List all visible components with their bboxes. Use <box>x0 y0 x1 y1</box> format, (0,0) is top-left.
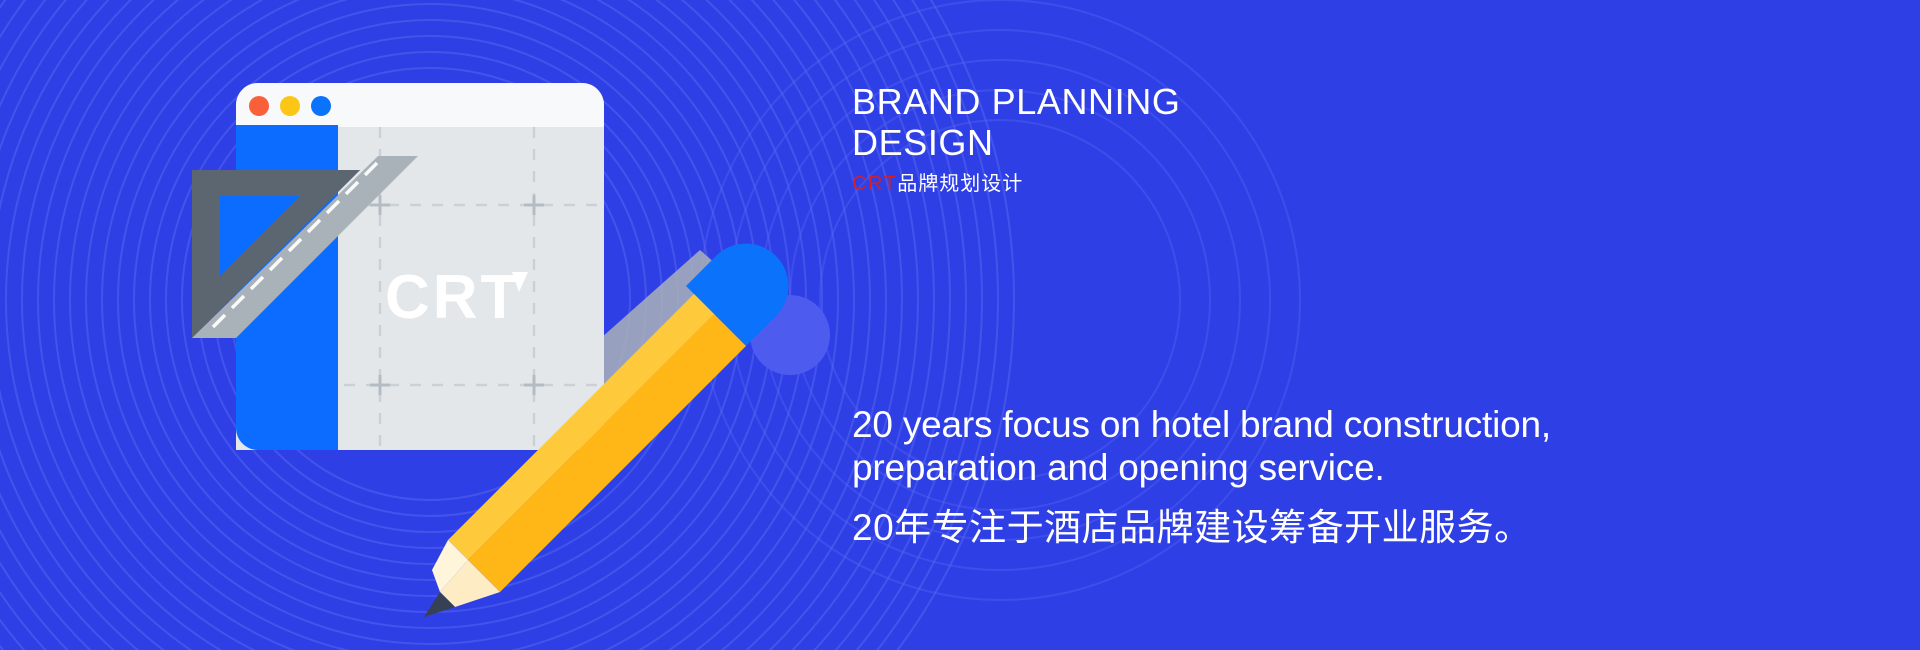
brand-subtitle: CRT品牌规划设计 <box>852 172 1552 196</box>
minimize-dot-icon <box>280 96 300 116</box>
close-dot-icon <box>249 96 269 116</box>
brand-subtitle-text: 品牌规划设计 <box>897 173 1023 195</box>
brand-mark: CRT <box>852 173 897 195</box>
brand-banner: CRT <box>0 0 1920 650</box>
maximize-dot-icon <box>311 96 331 116</box>
page-title: BRAND PLANNING DESIGN <box>852 82 1552 163</box>
tagline-english: 20 years focus on hotel brand constructi… <box>852 404 1672 490</box>
svg-text:CRT: CRT <box>385 263 521 332</box>
tagline-chinese: 20年专注于酒店品牌建设筹备开业服务。 <box>852 504 1672 552</box>
headline-block: BRAND PLANNING DESIGN CRT品牌规划设计 <box>852 82 1552 196</box>
tagline-block: 20 years focus on hotel brand constructi… <box>852 404 1672 552</box>
copy-column: BRAND PLANNING DESIGN CRT品牌规划设计 20 years… <box>852 0 1872 650</box>
brand-design-illustration: CRT <box>0 0 860 650</box>
crt-canvas-wordmark: CRT <box>385 263 528 332</box>
